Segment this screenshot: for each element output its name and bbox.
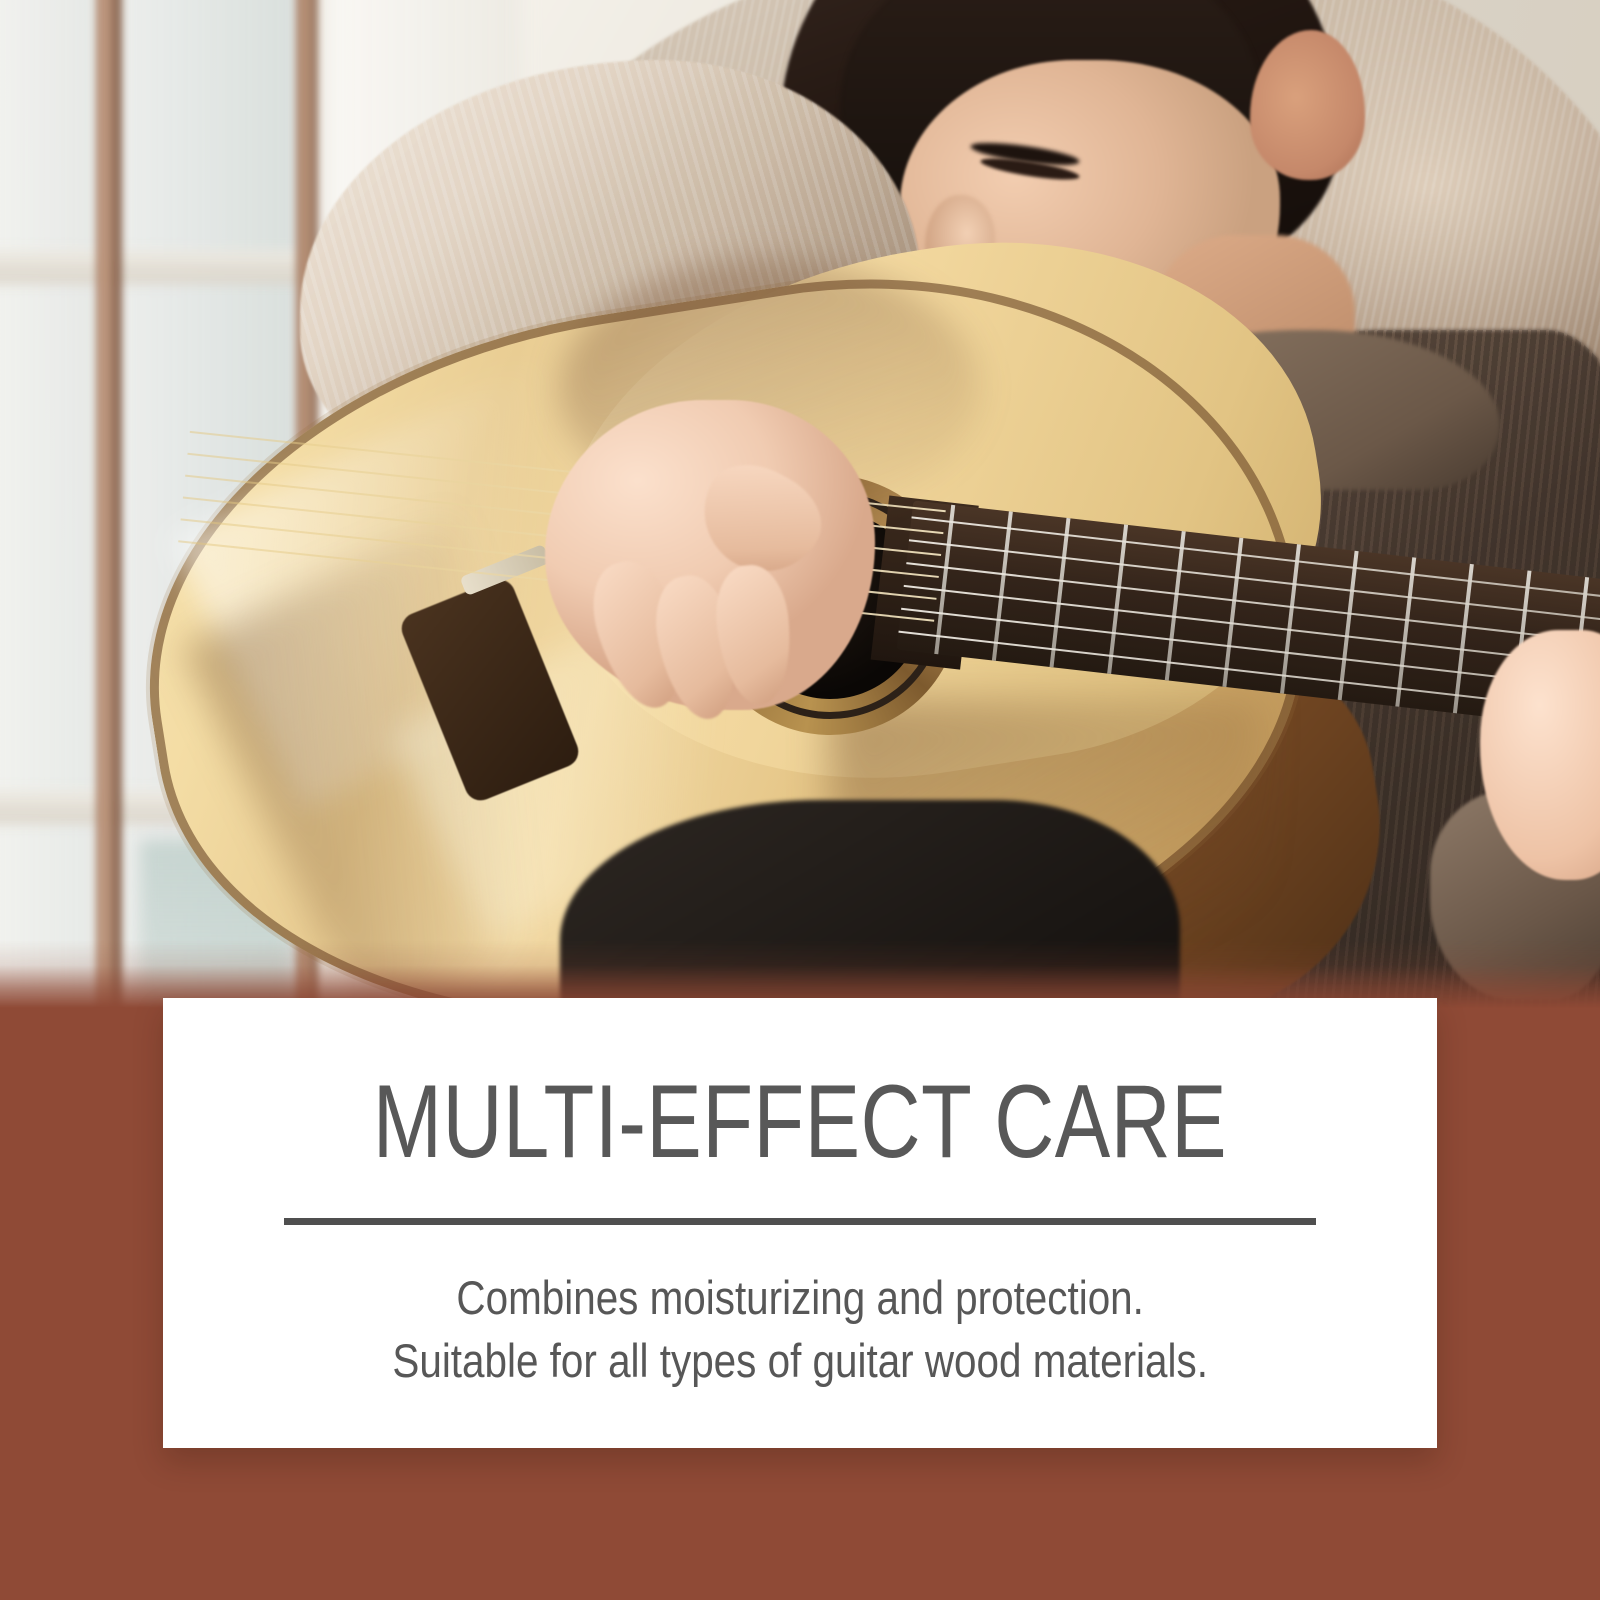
caption-card-inner: MULTI-EFFECT CARE Combines moisturizing … [163,998,1437,1448]
caption-body: Combines moisturizing and protection. Su… [392,1225,1208,1393]
hero-photo-content [0,0,1600,1010]
promo-canvas: MULTI-EFFECT CARE Combines moisturizing … [0,0,1600,1600]
caption-card: MULTI-EFFECT CARE Combines moisturizing … [163,998,1437,1448]
hero-photo [0,0,1600,1010]
window-pane-1 [0,0,100,1010]
window-mullion-1 [96,0,122,1010]
page-title: MULTI-EFFECT CARE [373,998,1227,1174]
person-lap [560,800,1180,1010]
title-divider [284,1218,1316,1225]
caption-line-2: Suitable for all types of guitar wood ma… [392,1330,1208,1393]
caption-line-1: Combines moisturizing and protection. [392,1267,1208,1330]
